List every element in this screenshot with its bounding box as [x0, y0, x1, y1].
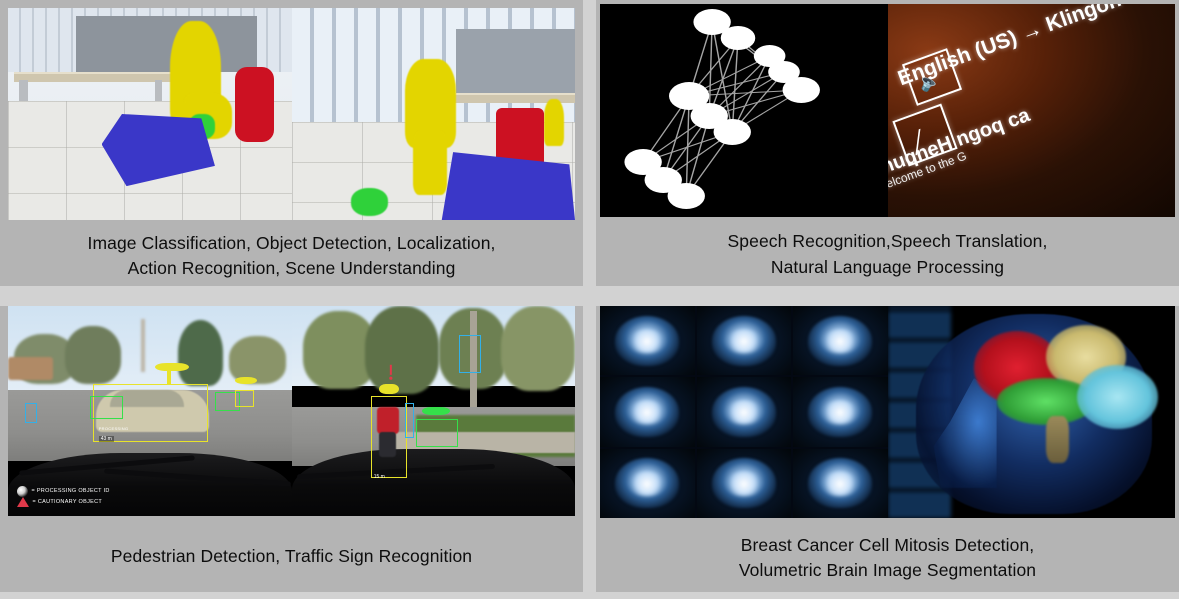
cautionary-object-icon [17, 497, 29, 507]
scan-slice [697, 449, 792, 518]
bounding-box-sign [25, 403, 37, 424]
neural-network-canvas [600, 4, 888, 217]
legend-label: = PROCESSING OBJECT ID [32, 486, 110, 496]
caption-line-1: Breast Cancer Cell Mitosis Detection, [739, 533, 1036, 558]
bounding-box-cyclist [371, 396, 407, 478]
scan-slice [793, 306, 888, 375]
segmentation-image-right [292, 8, 576, 220]
segment-red-container [235, 67, 275, 141]
tree [229, 336, 286, 384]
neural-network-graph-svg [600, 4, 888, 217]
detection-marker [167, 371, 171, 384]
panel-medical-imaging: Breast Cancer Cell Mitosis Detection, Vo… [596, 306, 1179, 592]
house [8, 357, 53, 380]
bounding-box-bench [416, 419, 458, 446]
scan-slice [793, 377, 888, 446]
phone-translation-image: 🔈 ╱ English (US) → Klingon nuqneH ngoq c… [888, 4, 1176, 217]
caption-line-2: Volumetric Brain Image Segmentation [739, 558, 1036, 583]
bounding-box-detail [90, 396, 123, 419]
figure-scans-and-brain [600, 306, 1175, 518]
tree [501, 306, 575, 391]
bounding-box-sign [459, 335, 481, 373]
caption-line-1: Image Classification, Object Detection, … [88, 231, 496, 256]
scan-slice [793, 449, 888, 518]
figure-warehouse-segmentation [8, 8, 575, 220]
utility-pole [141, 319, 145, 372]
scan-slice [600, 377, 695, 446]
language-pair-text: English (US) → Klingon [895, 4, 1125, 91]
brain-segmentation-image [888, 306, 1176, 518]
legend-label: = CAUTIONARY OBJECT [33, 497, 103, 507]
tree [65, 326, 122, 384]
dashcam-image-right: 15 m [292, 306, 576, 516]
tree [178, 320, 223, 385]
warning-triangle-icon [371, 352, 411, 386]
brain-canvas [888, 306, 1176, 518]
panel-caption: Pedestrian Detection, Traffic Sign Recog… [8, 516, 575, 592]
panel-pedestrian-detection: 43 m PROCESSING = PROCESSING OBJECT ID =… [0, 306, 583, 592]
panel-speech-recognition: 🔈 ╱ English (US) → Klingon nuqneH ngoq c… [596, 0, 1179, 286]
wall-partition-2 [456, 29, 575, 93]
caption-line-2: Natural Language Processing [728, 255, 1048, 280]
neural-network-image [600, 4, 888, 217]
panel-caption: Image Classification, Object Detection, … [8, 220, 575, 286]
wall-partition [76, 16, 257, 71]
caption-line-2: Action Recognition, Scene Understanding [88, 256, 496, 281]
bounding-box-post [405, 403, 414, 439]
caption-line-1: Pedestrian Detection, Traffic Sign Recog… [111, 544, 472, 569]
road-scene-right: 15 m [292, 306, 576, 516]
legend-row-cautionary: = CAUTIONARY OBJECT [17, 497, 110, 507]
panel-caption: Breast Cancer Cell Mitosis Detection, Vo… [600, 518, 1175, 592]
segment-green-object-2 [351, 188, 388, 216]
panel-image-classification: Image Classification, Object Detection, … [0, 0, 583, 286]
dashcam-image-left: 43 m PROCESSING = PROCESSING OBJECT ID =… [8, 306, 292, 516]
car-hood [292, 449, 576, 516]
figure-neural-network-and-phone: 🔈 ╱ English (US) → Klingon nuqneH ngoq c… [600, 4, 1175, 217]
bounding-box-far-vehicle [235, 390, 254, 407]
segment-person-far [544, 99, 564, 146]
distance-label: 15 m [374, 474, 385, 480]
brainstem [1046, 416, 1069, 463]
phone-screen: 🔈 ╱ English (US) → Klingon nuqneH ngoq c… [888, 4, 1176, 217]
detection-marker [235, 377, 258, 383]
scan-slice [600, 449, 695, 518]
panel-caption: Speech Recognition,Speech Translation, N… [600, 217, 1175, 286]
segmentation-image-left [8, 8, 292, 220]
caption-line-1: Speech Recognition,Speech Translation, [728, 229, 1048, 254]
lobe-occipital [1077, 365, 1158, 429]
scan-slice-grid [600, 306, 888, 518]
legend-row-processing: = PROCESSING OBJECT ID [17, 486, 110, 497]
application-domain-grid: Image Classification, Object Detection, … [0, 0, 1179, 599]
detection-marker-green [422, 407, 450, 415]
detection-marker [155, 363, 189, 371]
scan-slice [697, 377, 792, 446]
ct-scan-grid-image [600, 306, 888, 518]
distance-label: 43 m [99, 436, 114, 442]
scan-slice [697, 306, 792, 375]
detection-legend: = PROCESSING OBJECT ID = CAUTIONARY OBJE… [17, 486, 110, 507]
detection-marker-bicycle [379, 384, 399, 395]
object-id-label: PROCESSING [99, 426, 129, 431]
scan-slice [600, 306, 695, 375]
road-scene-left: 43 m PROCESSING = PROCESSING OBJECT ID =… [8, 306, 292, 516]
segment-person-legs [413, 131, 447, 195]
processing-object-icon [17, 486, 28, 497]
figure-dashcam-detection: 43 m PROCESSING = PROCESSING OBJECT ID =… [8, 306, 575, 516]
